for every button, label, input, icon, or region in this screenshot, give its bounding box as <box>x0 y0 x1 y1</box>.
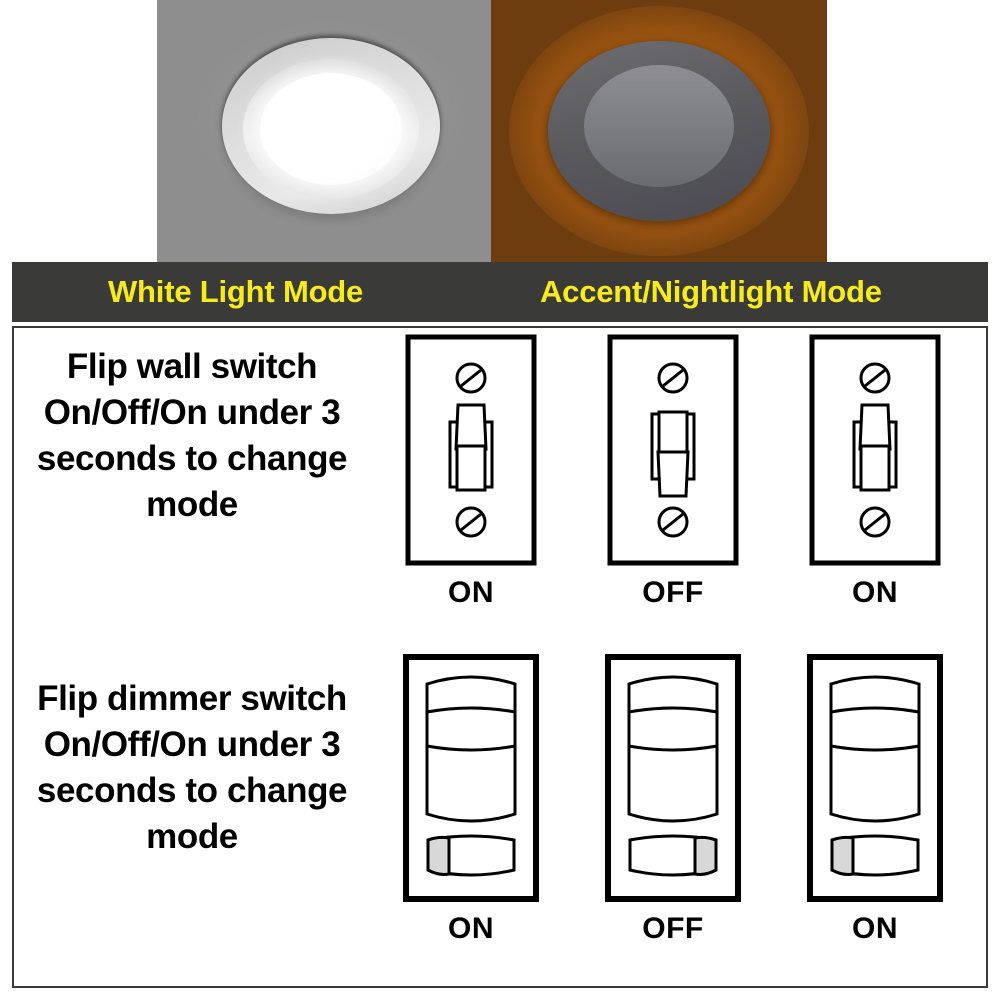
dimmer-switch-diagrams: ON OFF <box>370 654 986 984</box>
mode-banner: White Light Mode Accent/Nightlight Mode <box>12 262 988 322</box>
photo-strip <box>0 0 1000 262</box>
dimmer-slider-slot <box>629 708 717 750</box>
screw-top-icon <box>457 364 485 392</box>
dimmer-rocker-right-active <box>695 837 716 874</box>
dimmer-switch-plate-off-icon <box>605 654 741 902</box>
dimmer-rocker-left-active <box>428 837 449 874</box>
wall-switch-row: Flip wall switch On/Off/On under 3 secon… <box>14 334 986 652</box>
wall-switch-diagrams: ON <box>370 334 986 652</box>
dimmer-slider-slot <box>831 708 919 750</box>
dimmer-switch-instruction-text: Flip dimmer switch On/Off/On under 3 sec… <box>14 676 370 859</box>
screw-bottom-icon <box>457 508 485 536</box>
dimmer-switch-3-state-label: ON <box>852 912 898 946</box>
dimmer-switch-instruction: Flip dimmer switch On/Off/On under 3 sec… <box>14 654 370 984</box>
dimmer-slider-slot <box>427 708 515 750</box>
ceiling-light-trim-ring <box>222 38 440 214</box>
accent-nightlight-photo <box>491 0 827 262</box>
toggle-lever-up <box>860 405 890 490</box>
wall-switch-instruction-text: Flip wall switch On/Off/On under 3 secon… <box>14 344 370 527</box>
ceiling-light-diffuser-ring <box>243 59 419 199</box>
toggle-switch-plate-on-icon <box>405 334 537 566</box>
wall-switch-3-on: ON <box>809 334 941 610</box>
dimmer-switch-plate-on-icon <box>403 654 539 902</box>
wall-switch-1-state-label: ON <box>448 576 494 610</box>
toggle-switch-plate-on-icon <box>809 334 941 566</box>
wall-switch-2-state-label: OFF <box>642 576 704 610</box>
instructions-panel: Flip wall switch On/Off/On under 3 secon… <box>12 326 988 988</box>
ceiling-light-lens-white <box>260 73 402 185</box>
dimmer-switch-2-off: OFF <box>605 654 741 946</box>
accent-nightlight-mode-label: Accent/Nightlight Mode <box>540 274 882 310</box>
white-light-mode-label: White Light Mode <box>108 274 363 310</box>
wall-switch-1-on: ON <box>405 334 537 610</box>
toggle-lever-up <box>456 405 486 490</box>
dimmer-switch-plate-on-icon <box>807 654 943 902</box>
dimmer-switch-row: Flip dimmer switch On/Off/On under 3 sec… <box>14 654 986 984</box>
ceiling-light-trim-ring-dark <box>548 41 770 221</box>
dimmer-switch-1-on: ON <box>403 654 539 946</box>
ceiling-light-lens-dark <box>584 65 734 187</box>
screw-top-icon <box>861 364 889 392</box>
wall-switch-2-off: OFF <box>607 334 739 610</box>
screw-top-icon <box>659 364 687 392</box>
dimmer-switch-3-on: ON <box>807 654 943 946</box>
dimmer-switch-2-state-label: OFF <box>642 912 704 946</box>
dimmer-rocker-left-active <box>832 837 853 874</box>
wall-switch-instruction: Flip wall switch On/Off/On under 3 secon… <box>14 334 370 652</box>
toggle-lever-down <box>658 412 688 496</box>
dimmer-switch-1-state-label: ON <box>448 912 494 946</box>
toggle-switch-plate-off-icon <box>607 334 739 566</box>
screw-bottom-icon <box>861 508 889 536</box>
white-light-photo <box>157 0 491 262</box>
instruction-diagram-page: White Light Mode Accent/Nightlight Mode … <box>0 0 1000 1000</box>
wall-switch-3-state-label: ON <box>852 576 898 610</box>
screw-bottom-icon <box>659 508 687 536</box>
